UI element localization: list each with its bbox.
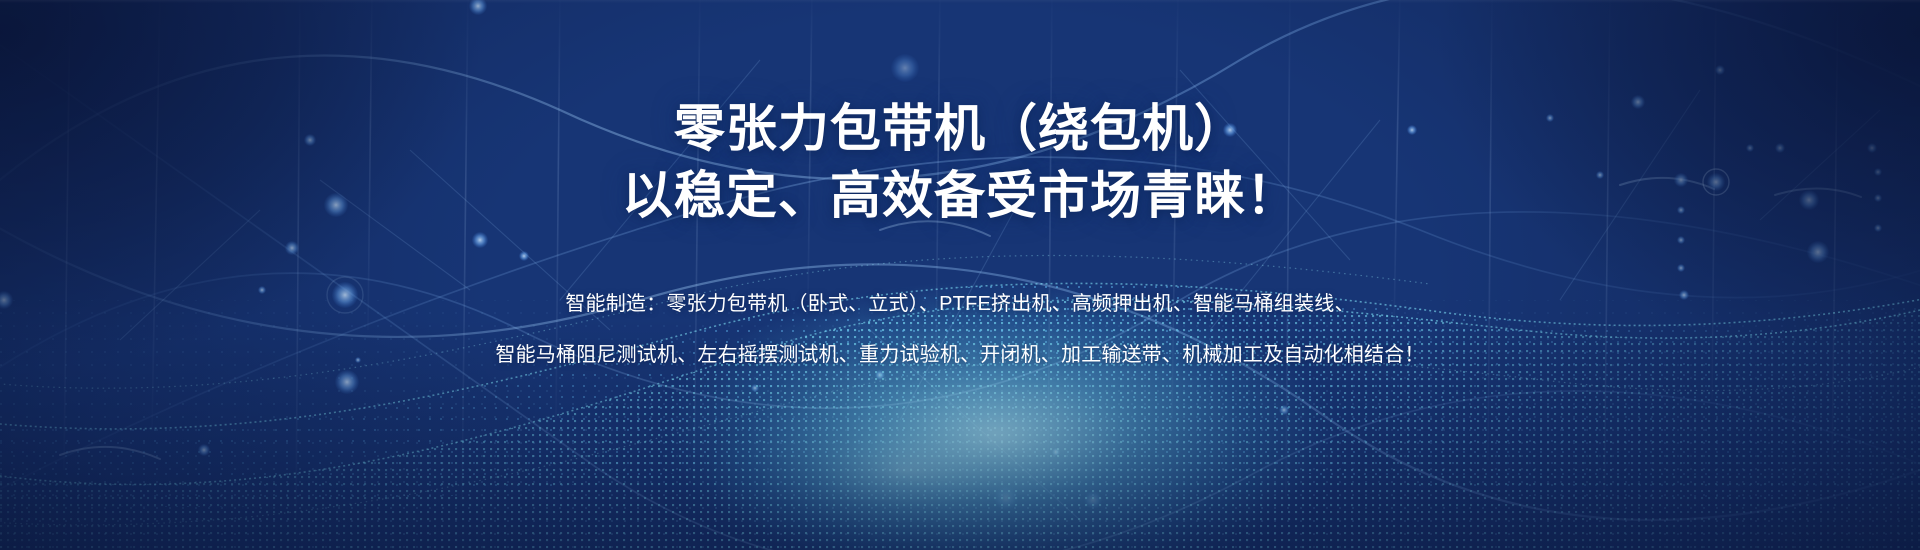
headline-line-1: 零张力包带机（绕包机） xyxy=(0,98,1920,160)
hero-banner: 零张力包带机（绕包机） 以稳定、高效备受市场青睐！ 智能制造：零张力包带机（卧式… xyxy=(0,0,1920,550)
subtitle-line-1: 智能制造：零张力包带机（卧式、立式）、PTFE挤出机、高频押出机、智能马桶组装线… xyxy=(0,289,1920,319)
headline-line-2: 以稳定、高效备受市场青睐！ xyxy=(0,165,1920,227)
subtitle-line-2: 智能马桶阻尼测试机、左右摇摆测试机、重力试验机、开闭机、加工输送带、机械加工及自… xyxy=(0,340,1920,370)
top-edge-highlight xyxy=(0,0,1920,550)
